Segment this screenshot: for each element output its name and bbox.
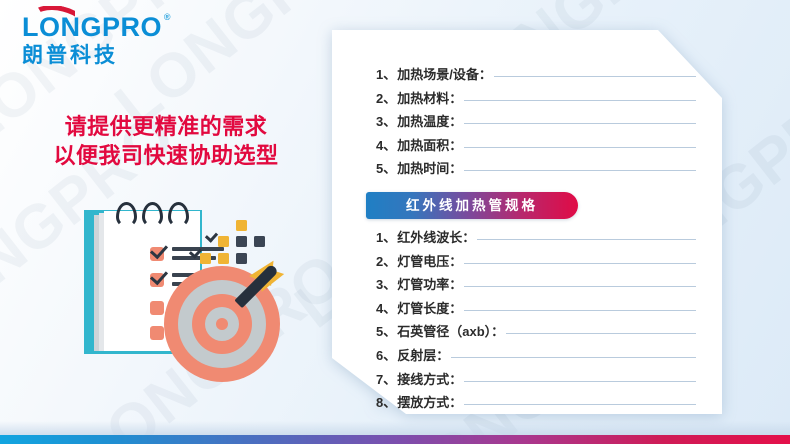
form-row-number: 4、 <box>376 298 396 317</box>
form-row-input-rule[interactable] <box>464 286 696 287</box>
registered-trademark-icon: ® <box>164 13 171 22</box>
form-row-input-rule[interactable] <box>464 147 696 148</box>
form-row[interactable]: 1、 红外线波长： <box>376 227 722 251</box>
headline-line-2: 以便我司快速协助选型 <box>0 141 332 170</box>
check-icon <box>205 229 218 243</box>
checklist-target-illustration <box>66 198 316 398</box>
form-card: 1、 加热场景/设备： 2、 加热材料： 3、 加热温度： 4、 加热面积： <box>332 30 722 414</box>
spiral-ring-icon <box>168 202 189 227</box>
form-row[interactable]: 3、 灯管功率： <box>376 274 722 298</box>
form-row-number: 5、 <box>376 158 396 177</box>
form-row-label: 加热场景/设备： <box>397 64 492 83</box>
form-row-input-rule[interactable] <box>451 357 696 358</box>
form-row-label: 摆放方式： <box>397 392 462 411</box>
form-row-number: 1、 <box>376 227 396 246</box>
form-row[interactable]: 2、 加热材料： <box>376 88 722 112</box>
form-row-label: 灯管电压： <box>397 251 462 270</box>
square-yellow <box>218 253 229 264</box>
headline-line-1: 请提供更精准的需求 <box>0 112 332 141</box>
form-row-label: 加热时间： <box>397 158 462 177</box>
form-row-label: 接线方式： <box>397 369 462 388</box>
form-row[interactable]: 5、 加热时间： <box>376 158 722 182</box>
logo-wordmark-text: LONGPRO <box>22 12 162 42</box>
form-row[interactable]: 8、 摆放方式： <box>376 392 722 416</box>
form-row-number: 6、 <box>376 345 396 364</box>
form-row-input-rule[interactable] <box>464 100 696 101</box>
arrow-icon <box>229 256 299 326</box>
form-row[interactable]: 6、 反射层： <box>376 345 722 369</box>
form-row-number: 1、 <box>376 64 396 83</box>
form-row-input-rule[interactable] <box>464 310 696 311</box>
square-dark <box>236 236 247 247</box>
form-row[interactable]: 5、 石英管径（axb）： <box>376 321 722 345</box>
form-row-label: 反射层： <box>397 345 449 364</box>
form-row-number: 3、 <box>376 274 396 293</box>
footer-fade <box>0 421 790 435</box>
form-row-label: 红外线波长： <box>397 227 475 246</box>
form-row[interactable]: 4、 加热面积： <box>376 135 722 159</box>
form-row-number: 8、 <box>376 392 396 411</box>
logo-chinese-name: 朗普科技 <box>22 44 162 67</box>
form-row-number: 3、 <box>376 111 396 130</box>
form-row[interactable]: 1、 加热场景/设备： <box>376 64 722 88</box>
square-yellow <box>200 253 211 264</box>
section-banner: 红外线加热管规格 <box>366 192 578 219</box>
form-section-2: 1、 红外线波长： 2、 灯管电压： 3、 灯管功率： 4、 灯管长度： <box>376 227 722 416</box>
form-row-number: 4、 <box>376 135 396 154</box>
form-row-input-rule[interactable] <box>477 239 696 240</box>
form-row-label: 加热材料： <box>397 88 462 107</box>
slide-root: LONGPRO LONGPRO LONGPRO LONGPRO LONGPRO … <box>0 0 790 444</box>
form-row-input-rule[interactable] <box>464 404 696 405</box>
form-row-number: 7、 <box>376 369 396 388</box>
square-yellow <box>236 220 247 231</box>
form-row[interactable]: 7、 接线方式： <box>376 369 722 393</box>
form-row-input-rule[interactable] <box>464 381 696 382</box>
form-row-label: 加热面积： <box>397 135 462 154</box>
form-row[interactable]: 2、 灯管电压： <box>376 251 722 275</box>
form-row-label: 石英管径（axb）： <box>397 321 504 340</box>
form-row-number: 2、 <box>376 88 396 107</box>
target-bullseye <box>216 318 228 330</box>
footer-gradient-bar <box>0 435 790 444</box>
form-row-number: 2、 <box>376 251 396 270</box>
spiral-ring-icon <box>116 202 137 227</box>
form-row-number: 5、 <box>376 321 396 340</box>
form-card-content: 1、 加热场景/设备： 2、 加热材料： 3、 加热温度： 4、 加热面积： <box>332 30 722 414</box>
form-row-label: 灯管长度： <box>397 298 462 317</box>
spiral-ring-icon <box>142 202 163 227</box>
form-row-label: 灯管功率： <box>397 274 462 293</box>
square-dark <box>254 236 265 247</box>
form-row-input-rule[interactable] <box>464 170 696 171</box>
logo-wordmark: LONGPRO ® <box>22 14 162 41</box>
headline: 请提供更精准的需求 以便我司快速协助选型 <box>0 112 332 170</box>
form-section-1: 1、 加热场景/设备： 2、 加热材料： 3、 加热温度： 4、 加热面积： <box>376 64 722 182</box>
form-row-input-rule[interactable] <box>494 76 696 77</box>
checkbox-icon <box>150 326 164 340</box>
form-row[interactable]: 3、 加热温度： <box>376 111 722 135</box>
form-row-input-rule[interactable] <box>464 263 696 264</box>
form-row[interactable]: 4、 灯管长度： <box>376 298 722 322</box>
form-row-input-rule[interactable] <box>464 123 696 124</box>
company-logo: LONGPRO ® 朗普科技 <box>22 14 162 67</box>
form-row-input-rule[interactable] <box>506 333 696 334</box>
checkbox-icon <box>150 301 164 315</box>
form-row-label: 加热温度： <box>397 111 462 130</box>
square-yellow <box>218 236 229 247</box>
